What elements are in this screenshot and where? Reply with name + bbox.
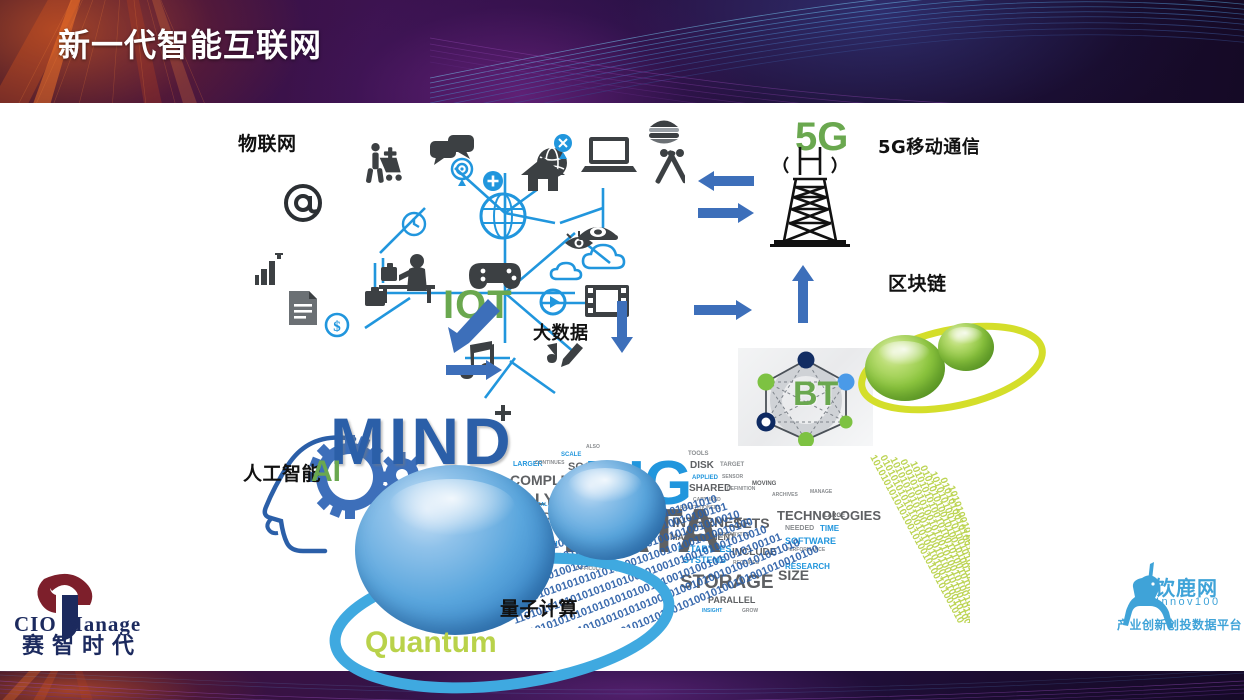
slide-header: 新一代智能互联网	[0, 0, 1244, 103]
label-blockchain: 区块链	[888, 269, 947, 296]
innov100-logo-subtitle: 产业创新创投数据平台	[1117, 616, 1242, 633]
cell-tower-icon	[762, 141, 858, 261]
arrow-left-icon	[698, 169, 754, 193]
iot-network-illustration: $	[255, 113, 685, 433]
slide-root: 新一代智能互联网 物联网	[0, 0, 1244, 700]
binary-stream-green: 1010101010101001010010100101001010 01010…	[690, 433, 970, 623]
quantum-wordmark: Quantum	[365, 626, 497, 660]
ai-wordmark: AI	[311, 455, 341, 489]
arrow-right-icon	[698, 201, 754, 225]
arrow-down-left-to-ai-icon	[444, 299, 500, 353]
label-ai: 人工智能	[243, 459, 321, 486]
innov100-logo-english: Innov100	[1156, 596, 1220, 608]
green-sphere-large	[865, 335, 945, 401]
svg-text:$: $	[333, 319, 341, 335]
quantum-sphere-small	[548, 460, 666, 560]
green-sphere-small	[938, 323, 994, 371]
arrow-right-ai-to-bigdata-icon	[446, 358, 502, 382]
header-wave-decoration	[430, 0, 1244, 103]
arrow-up-to-tower-icon	[790, 265, 816, 323]
arrow-down-to-bigdata-icon	[609, 301, 635, 353]
label-5g-mobile: 5G移动通信	[878, 133, 980, 159]
arrow-right-to-blockchain-icon	[694, 298, 752, 322]
page-title: 新一代智能互联网	[58, 20, 322, 66]
bt-wordmark: BT	[793, 375, 838, 414]
label-quantum-computing: 量子计算	[500, 594, 578, 621]
saizhi-logo-chinese: 赛智时代	[22, 628, 142, 660]
label-big-data: 大数据	[533, 319, 589, 345]
